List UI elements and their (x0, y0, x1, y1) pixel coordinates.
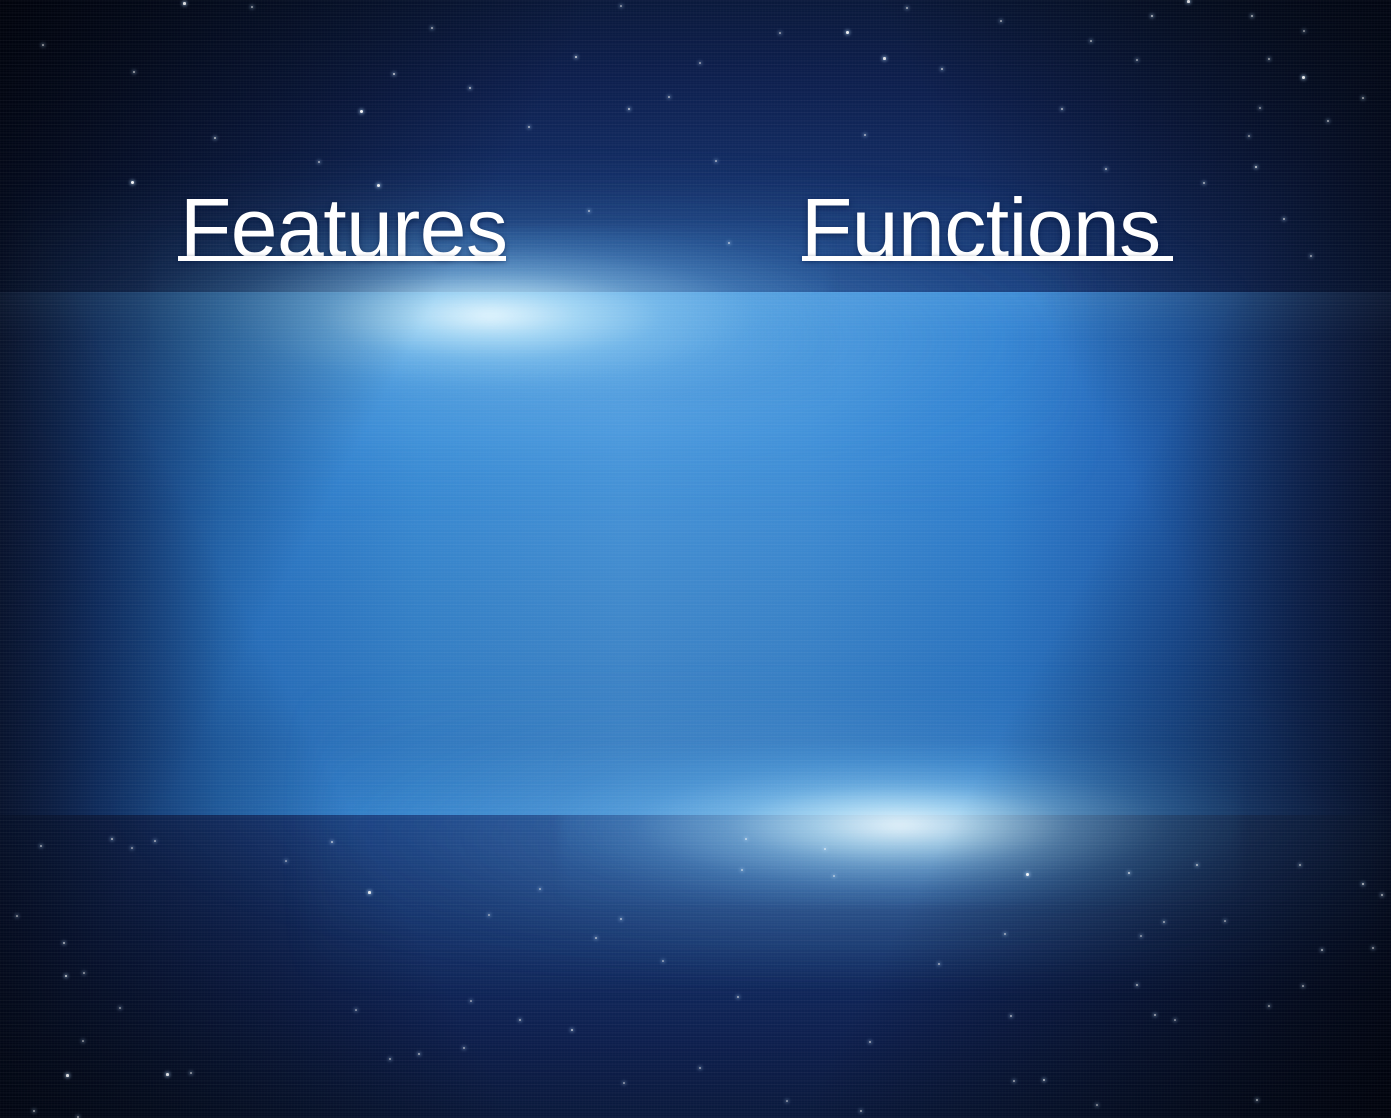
star-dot (941, 68, 943, 70)
star-dot (623, 1082, 625, 1084)
star-dot (1268, 58, 1270, 60)
star-dot (528, 126, 530, 128)
star-dot (1362, 97, 1364, 99)
star-dot (469, 87, 471, 89)
star-dot (864, 134, 866, 136)
star-dot (1327, 120, 1329, 122)
star-dot (42, 44, 44, 46)
star-dot (1154, 1014, 1156, 1016)
star-dot (883, 57, 886, 60)
star-dot (1259, 107, 1261, 109)
star-dot (737, 996, 739, 998)
star-dot (133, 71, 135, 73)
star-dot (431, 27, 433, 29)
star-dot (82, 1040, 84, 1042)
star-dot (571, 1029, 573, 1031)
star-dot (66, 1074, 69, 1077)
heading-features-underline (178, 256, 506, 261)
star-dot (1187, 0, 1190, 3)
star-dot (190, 1072, 192, 1074)
star-dot (1136, 59, 1138, 61)
star-dot (519, 1019, 521, 1021)
star-dot (470, 1000, 472, 1002)
star-dot (860, 1110, 862, 1112)
star-dot (1268, 1005, 1270, 1007)
star-dot (1174, 1019, 1176, 1021)
star-dot (33, 1110, 35, 1112)
star-dot (699, 62, 701, 64)
star-dot (620, 5, 622, 7)
star-dot (1000, 20, 1002, 22)
star-dot (1061, 108, 1063, 110)
star-dot (1303, 30, 1305, 32)
star-dot (1248, 135, 1250, 137)
star-dot (418, 1053, 420, 1055)
star-dot (360, 110, 363, 113)
star-dot (699, 1067, 701, 1069)
star-dot (251, 6, 253, 8)
heading-functions-underline (802, 256, 1173, 261)
star-dot (389, 1058, 391, 1060)
star-dot (575, 56, 577, 58)
star-dot (1251, 15, 1253, 17)
star-dot (869, 1041, 871, 1043)
star-dot (1302, 76, 1305, 79)
star-dot (1010, 1015, 1012, 1017)
lower-right-core-glow (560, 745, 1240, 905)
star-dot (1013, 1080, 1015, 1082)
star-dot (1043, 1079, 1045, 1081)
star-dot (906, 7, 908, 9)
star-dot (779, 32, 781, 34)
star-dot (786, 1100, 788, 1102)
star-dot (1096, 1104, 1098, 1106)
star-dot (355, 1009, 357, 1011)
star-dot (119, 1007, 121, 1009)
star-dot (1256, 1099, 1258, 1101)
star-dot (214, 137, 216, 139)
star-dot (1090, 40, 1092, 42)
star-dot (183, 2, 186, 5)
presentation-slide: Features Functions (0, 0, 1391, 1118)
star-dot (1151, 15, 1153, 17)
star-dot (628, 108, 630, 110)
star-dot (668, 96, 670, 98)
star-dot (166, 1073, 169, 1076)
star-dot (463, 1047, 465, 1049)
star-dot (846, 31, 849, 34)
star-dot (393, 73, 395, 75)
